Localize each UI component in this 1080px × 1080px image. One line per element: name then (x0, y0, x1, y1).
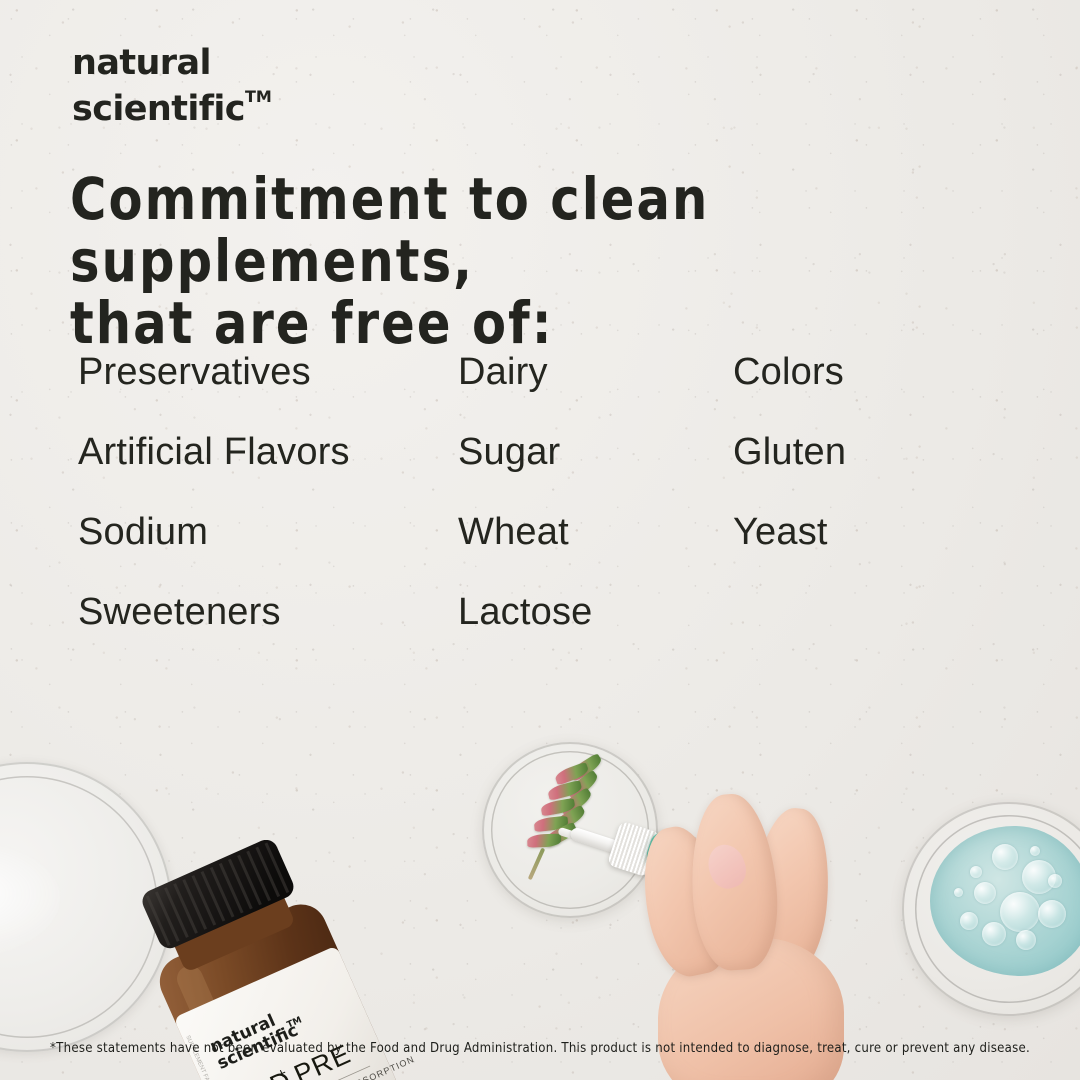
trademark-symbol: TM (245, 87, 272, 106)
brand-logo-line2: scientific (72, 89, 245, 129)
promo-canvas: natural scientificTM Commitment to clean… (0, 0, 1080, 1080)
headline-line-2: that are free of: (70, 292, 982, 354)
list-item: Dairy (458, 352, 593, 432)
list-item: Preservatives (78, 352, 350, 432)
list-item: Yeast (733, 512, 846, 592)
free-of-column-3: Colors Gluten Yeast (733, 352, 846, 592)
list-item: Gluten (733, 432, 846, 512)
list-item: Wheat (458, 512, 593, 592)
free-of-column-2: Dairy Sugar Wheat Lactose (458, 352, 593, 672)
hand (640, 790, 850, 1080)
free-of-list: Preservatives Artificial Flavors Sodium … (0, 352, 1080, 652)
sprig-stem (528, 848, 545, 881)
page-title: Commitment to clean supplements, that ar… (70, 168, 982, 354)
list-item: Artificial Flavors (78, 432, 350, 512)
list-item: Sugar (458, 432, 593, 512)
list-item: Sodium (78, 512, 350, 592)
fingernail (703, 840, 751, 893)
product-photography: natural scientific TM NAD + PRE PLANT-BA… (0, 640, 1080, 1080)
fda-disclaimer: *These statements have not been evaluate… (16, 1040, 1064, 1056)
list-item: Colors (733, 352, 846, 432)
free-of-column-1: Preservatives Artificial Flavors Sodium … (78, 352, 350, 672)
headline-line-1: Commitment to clean supplements, (70, 165, 709, 295)
brand-logo: natural scientificTM (72, 46, 272, 126)
brand-logo-line1: natural (72, 43, 211, 83)
